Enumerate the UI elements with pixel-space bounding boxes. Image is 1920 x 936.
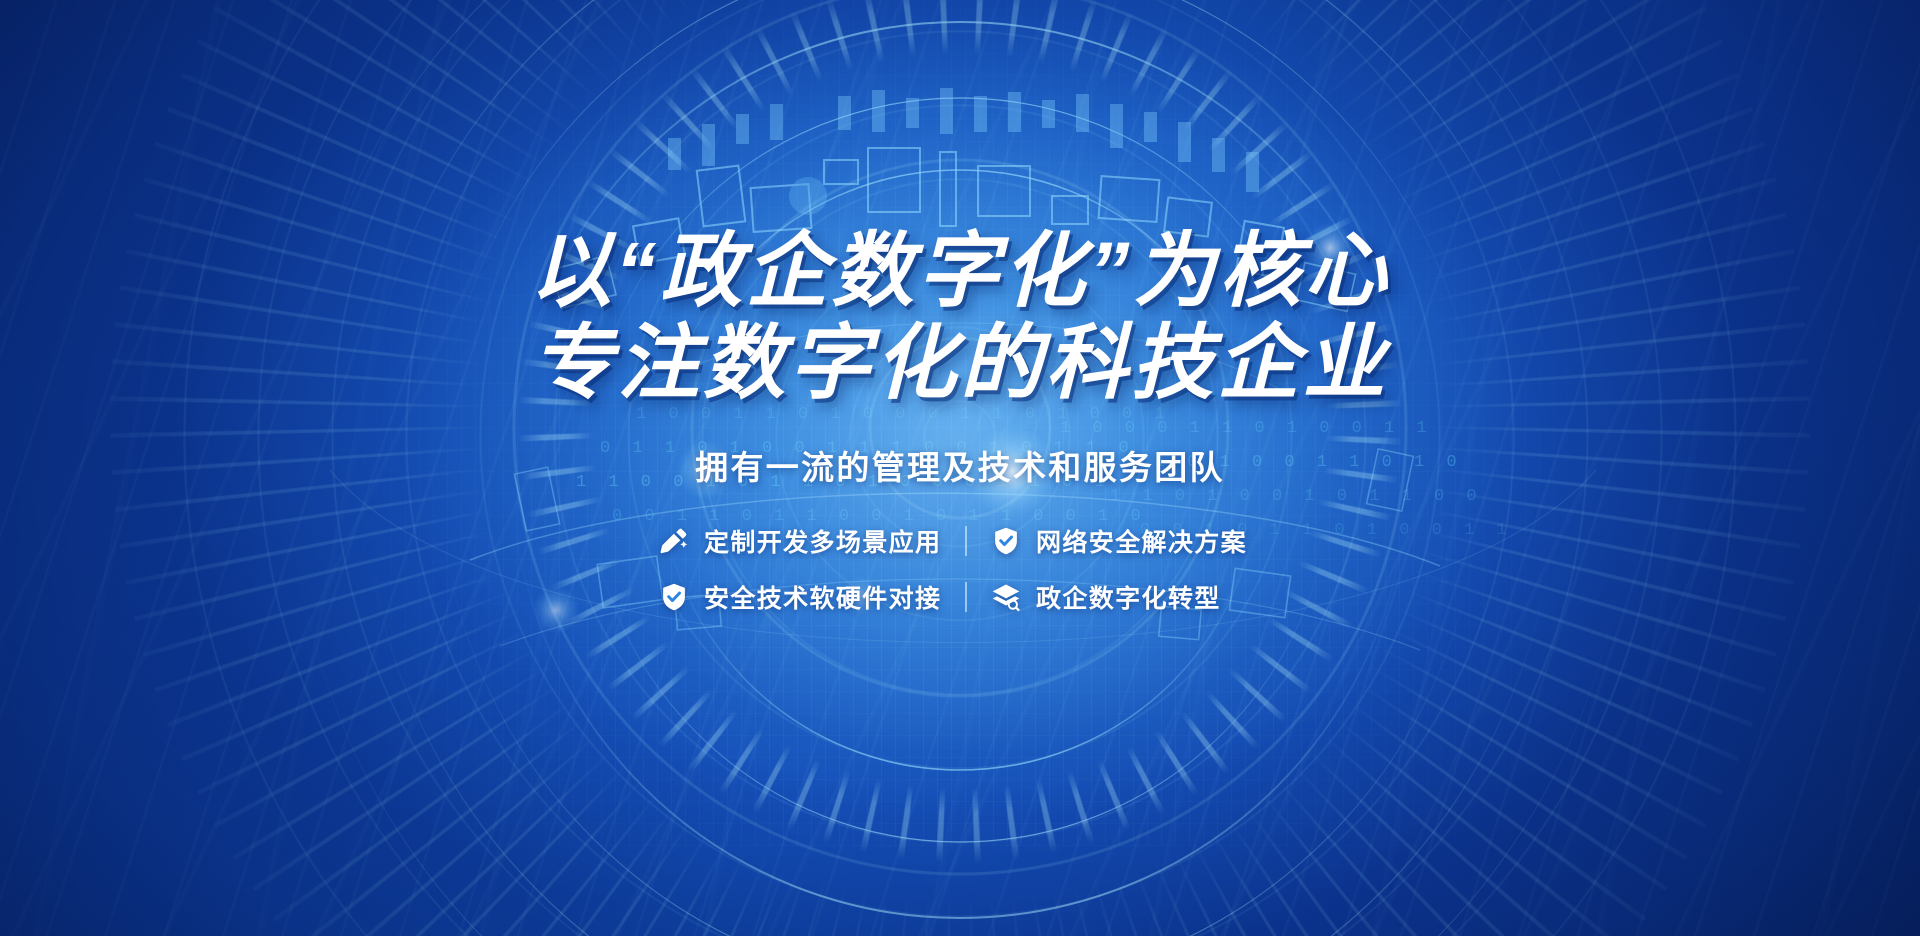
feature-label: 政企数字化转型	[1036, 579, 1221, 615]
subtitle: 拥有一流的管理及技术和服务团队	[695, 441, 1225, 489]
feature-row: 安全技术软硬件对接 政企数字化转型	[659, 579, 1261, 615]
feature-label: 定制开发多场景应用	[704, 523, 941, 559]
pencil-edit-icon	[659, 526, 689, 556]
feature-item-digital-transformation[interactable]: 政企数字化转型	[991, 579, 1261, 615]
shield-check-icon	[991, 526, 1021, 556]
feature-item-security-integration[interactable]: 安全技术软硬件对接	[659, 579, 955, 615]
headline-line-2: 专注数字化的科技企业	[530, 324, 1391, 404]
headline-line-1: 以“政企数字化”为核心	[530, 232, 1391, 312]
feature-row: 定制开发多场景应用 网络安全解决方案	[659, 523, 1261, 559]
feature-divider	[965, 526, 967, 556]
feature-item-network-security[interactable]: 网络安全解决方案	[991, 523, 1261, 559]
headline: 以“政企数字化”为核心 专注数字化的科技企业	[530, 232, 1391, 405]
feature-list: 定制开发多场景应用 网络安全解决方案 安全技术软	[659, 523, 1261, 615]
layers-search-icon	[991, 582, 1021, 612]
feature-divider	[965, 582, 967, 612]
shield-check-icon	[659, 582, 689, 612]
feature-item-custom-development[interactable]: 定制开发多场景应用	[659, 523, 955, 559]
feature-label: 网络安全解决方案	[1036, 523, 1247, 559]
hero-banner: 1 0 0 1 1 0 1 0 0 0 1 1 0 1 0 0 1 0 1 1 …	[0, 0, 1920, 936]
feature-label: 安全技术软硬件对接	[704, 579, 941, 615]
banner-content: 以“政企数字化”为核心 专注数字化的科技企业 拥有一流的管理及技术和服务团队 定…	[0, 0, 1920, 936]
